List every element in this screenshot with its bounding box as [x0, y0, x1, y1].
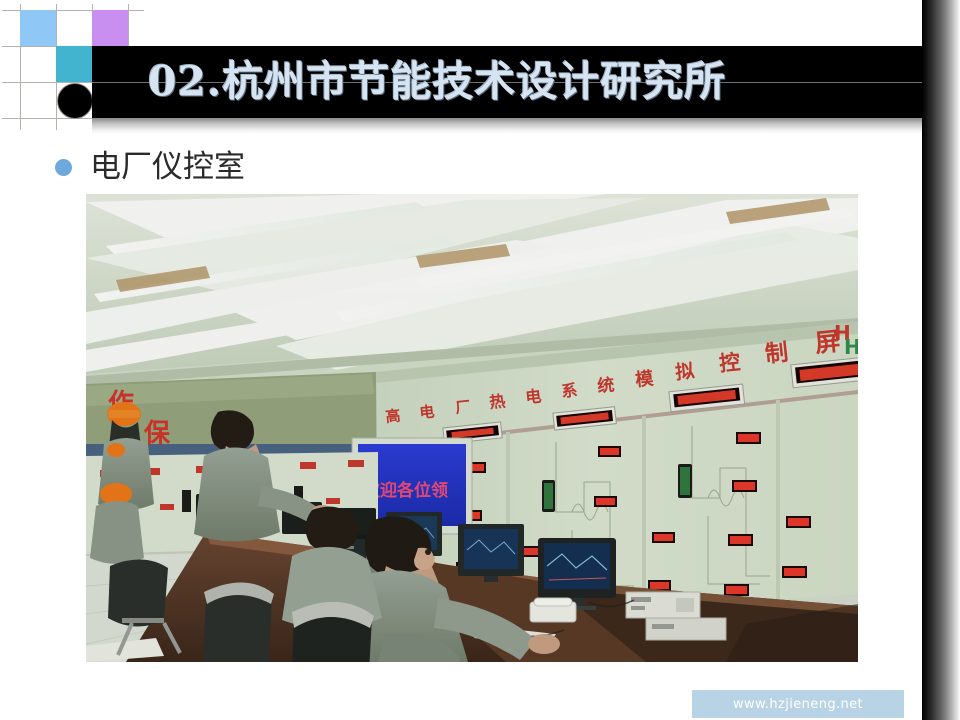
teal-square: [56, 46, 92, 82]
page-title: 02.杭州市节能技术设计研究所: [148, 62, 726, 103]
right-edge-shade: [922, 0, 960, 720]
black-circle-icon: [57, 83, 93, 119]
bullet-item-label: 电厂仪控室: [90, 152, 245, 183]
bullet-dot-icon: [55, 159, 72, 176]
bullet-item: 电厂仪控室: [55, 152, 245, 183]
control-room-photo: 作 保 控 高 电 厂 热 电 系: [86, 194, 858, 662]
photo-artwork: 作 保 控 高 电 厂 热 电 系: [86, 194, 858, 662]
slide-canvas: 02.杭州市节能技术设计研究所 电厂仪控室: [0, 0, 960, 720]
light-blue-square: [20, 10, 56, 46]
purple-square: [92, 10, 128, 46]
footer-url-bar[interactable]: www.hzjieneng.net: [692, 690, 904, 718]
footer-url-text: www.hzjieneng.net: [733, 697, 863, 712]
slide-title-bar: 02.杭州市节能技术设计研究所: [92, 46, 922, 118]
